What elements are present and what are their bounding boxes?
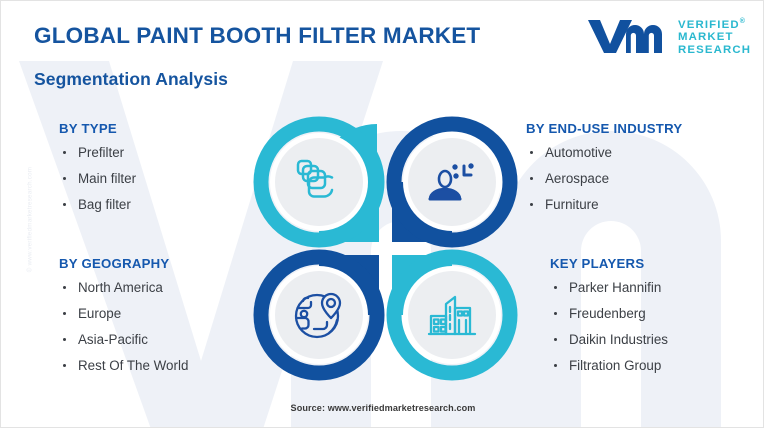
segment-title-by-geography: BY GEOGRAPHY bbox=[59, 256, 188, 271]
segment-list-key-players: Parker Hannifin Freudenberg Daikin Indus… bbox=[550, 280, 668, 373]
segment-by-type: BY TYPE Prefilter Main filter Bag filter bbox=[59, 121, 136, 223]
list-item: Freudenberg bbox=[550, 306, 668, 321]
list-item: Aerospace bbox=[526, 171, 682, 186]
list-item: Main filter bbox=[59, 171, 136, 186]
source-caption: Source: www.verifiedmarketresearch.com bbox=[1, 403, 764, 413]
segment-list-by-end-use-industry: Automotive Aerospace Furniture bbox=[526, 145, 682, 212]
infographic-canvas: GLOBAL PAINT BOOTH FILTER MARKET Segment… bbox=[0, 0, 764, 428]
segment-title-by-type: BY TYPE bbox=[59, 121, 136, 136]
vmr-monogram-icon bbox=[586, 17, 672, 55]
logo-line-verified: VERIFIED® bbox=[678, 16, 754, 31]
pinwheel-circle-key-players bbox=[392, 255, 510, 373]
list-item: North America bbox=[59, 280, 188, 295]
logo-wordmark: VERIFIED® MARKET RESEARCH bbox=[678, 16, 754, 57]
page-subtitle: Segmentation Analysis bbox=[34, 69, 228, 90]
list-item: Asia-Pacific bbox=[59, 332, 188, 347]
segment-key-players: KEY PLAYERS Parker Hannifin Freudenberg … bbox=[550, 256, 668, 384]
list-item: Europe bbox=[59, 306, 188, 321]
segment-title-by-end-use-industry: BY END-USE INDUSTRY bbox=[526, 121, 682, 136]
verified-market-research-logo[interactable]: VERIFIED® MARKET RESEARCH bbox=[586, 13, 751, 61]
segmentation-pinwheel bbox=[253, 116, 518, 381]
segment-by-end-use-industry: BY END-USE INDUSTRY Automotive Aerospace… bbox=[526, 121, 682, 223]
page-title: GLOBAL PAINT BOOTH FILTER MARKET bbox=[34, 23, 480, 49]
segment-title-key-players: KEY PLAYERS bbox=[550, 256, 668, 271]
list-item: Furniture bbox=[526, 197, 682, 212]
logo-line-market: MARKET bbox=[678, 31, 754, 44]
list-item: Daikin Industries bbox=[550, 332, 668, 347]
segment-list-by-geography: North America Europe Asia-Pacific Rest O… bbox=[59, 280, 188, 373]
pinwheel-circle-by-type bbox=[261, 124, 379, 242]
list-item: Bag filter bbox=[59, 197, 136, 212]
list-item: Parker Hannifin bbox=[550, 280, 668, 295]
list-item: Automotive bbox=[526, 145, 682, 160]
segment-list-by-type: Prefilter Main filter Bag filter bbox=[59, 145, 136, 212]
list-item: Rest Of The World bbox=[59, 358, 188, 373]
segment-by-geography: BY GEOGRAPHY North America Europe Asia-P… bbox=[59, 256, 188, 384]
list-item: Filtration Group bbox=[550, 358, 668, 373]
list-item: Prefilter bbox=[59, 145, 136, 160]
logo-line-research: RESEARCH bbox=[678, 44, 754, 57]
side-copyright-text: © www.verifiedmarketresearch.com bbox=[27, 130, 34, 310]
pinwheel-circle-by-geography bbox=[261, 255, 379, 373]
registered-mark: ® bbox=[740, 18, 746, 25]
